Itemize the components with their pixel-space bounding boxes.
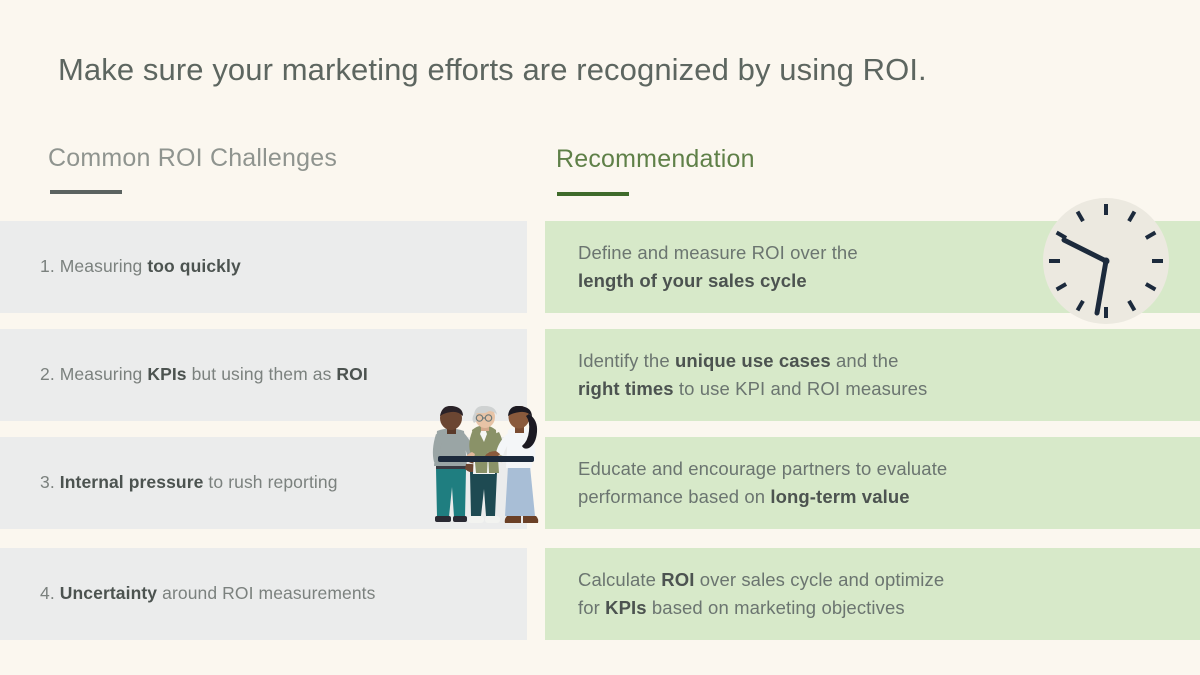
recommendation-text: Identify the unique use cases and therig… xyxy=(545,347,947,403)
table-row: 3. Internal pressure to rush reporting E… xyxy=(0,437,1200,529)
challenge-text: 2. Measuring KPIs but using them as ROI xyxy=(0,362,386,387)
challenge-text: 3. Internal pressure to rush reporting xyxy=(0,470,356,495)
recommendation-cell: Educate and encourage partners to evalua… xyxy=(545,437,1200,529)
slide-canvas: Make sure your marketing efforts are rec… xyxy=(0,0,1200,675)
challenge-text: 4. Uncertainty around ROI measurements xyxy=(0,581,394,606)
challenge-cell: 1. Measuring too quickly xyxy=(0,221,527,313)
challenge-cell: 4. Uncertainty around ROI measurements xyxy=(0,548,527,640)
comparison-table: 1. Measuring too quickly Define and meas… xyxy=(0,0,1200,675)
three-people-meeting-illustration xyxy=(422,406,550,530)
table-row: 4. Uncertainty around ROI measurements C… xyxy=(0,548,1200,640)
table-row: 2. Measuring KPIs but using them as ROI … xyxy=(0,329,1200,421)
recommendation-text: Educate and encourage partners to evalua… xyxy=(545,455,967,511)
recommendation-cell: Identify the unique use cases and therig… xyxy=(545,329,1200,421)
challenge-text: 1. Measuring too quickly xyxy=(0,254,259,279)
recommendation-text: Define and measure ROI over thelength of… xyxy=(545,239,878,295)
recommendation-text: Calculate ROI over sales cycle and optim… xyxy=(545,566,964,622)
clock-illustration xyxy=(1042,197,1170,325)
recommendation-cell: Calculate ROI over sales cycle and optim… xyxy=(545,548,1200,640)
table-row: 1. Measuring too quickly Define and meas… xyxy=(0,221,1200,313)
